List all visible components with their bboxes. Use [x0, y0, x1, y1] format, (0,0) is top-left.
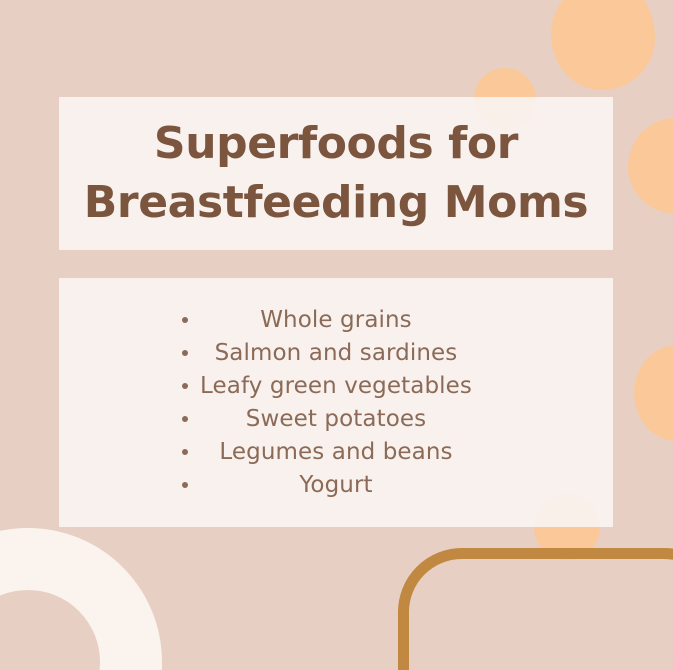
list-item-label: Whole grains	[260, 304, 412, 337]
list-item-label: Leafy green vegetables	[200, 370, 472, 403]
peach-blob-top-right-icon	[551, 0, 655, 90]
bullet-dot-icon	[182, 449, 188, 455]
peach-blob-right-upper-icon	[628, 118, 673, 214]
title-card: Superfoods for Breastfeeding Moms	[59, 97, 613, 250]
list-item-label: Yogurt	[299, 469, 372, 502]
bullet-dot-icon	[182, 350, 188, 356]
food-list-card: Whole grains Salmon and sardines Leafy g…	[59, 278, 613, 527]
bullet-dot-icon	[182, 482, 188, 488]
list-item-label: Salmon and sardines	[215, 337, 458, 370]
bullet-dot-icon	[182, 317, 188, 323]
bullet-dot-icon	[182, 383, 188, 389]
list-item-label: Sweet potatoes	[246, 403, 426, 436]
bullet-dot-icon	[182, 416, 188, 422]
page-title-line-2: Breastfeeding Moms	[84, 177, 588, 228]
list-item: Whole grains	[59, 304, 613, 337]
list-item: Yogurt	[59, 469, 613, 502]
cream-ring-bottom-left-icon	[0, 528, 162, 670]
superfoods-list: Whole grains Salmon and sardines Leafy g…	[59, 304, 613, 502]
list-item: Salmon and sardines	[59, 337, 613, 370]
ochre-curve-bottom-right-icon	[398, 548, 673, 670]
page-title-line-1: Superfoods for	[154, 118, 518, 169]
list-item: Sweet potatoes	[59, 403, 613, 436]
list-item-label: Legumes and beans	[219, 436, 452, 469]
page-title: Superfoods for Breastfeeding Moms	[84, 115, 588, 233]
list-item: Legumes and beans	[59, 436, 613, 469]
list-item: Leafy green vegetables	[59, 370, 613, 403]
poster-canvas: Superfoods for Breastfeeding Moms Whole …	[0, 0, 673, 670]
peach-blob-right-middle-icon	[634, 345, 673, 441]
